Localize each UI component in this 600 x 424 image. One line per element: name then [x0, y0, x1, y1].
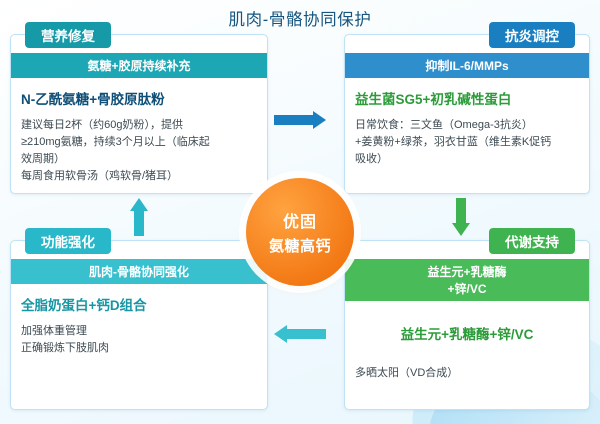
quadrant-subbar-metabolic-support: 益生元+乳糖酶 +锌/VC	[345, 259, 589, 301]
quadrant-key-metabolic-support: 益生元+乳糖酶+锌/VC	[355, 323, 579, 343]
arrow-top-right	[274, 111, 326, 129]
arrow-left-up	[130, 198, 148, 236]
quadrant-key-functional-enhancement: 全脂奶蛋白+钙D组合	[21, 294, 257, 314]
quadrant-card-anti-inflammatory-regulation: 抗炎调控 抑制IL-6/MMPs 益生菌SG5+初乳碱性蛋白 日常饮食：三文鱼（…	[344, 34, 590, 194]
diagram-canvas: 肌肉-骨骼协同保护 营养修复 氨糖+胶原持续补充 N-乙酰氨糖+骨胶原肽粉 建议…	[0, 0, 600, 424]
detail-line: 每周食用软骨汤（鸡软骨/猪耳）	[21, 168, 257, 185]
quadrant-details-metabolic-support: 多晒太阳（VD合成）	[355, 365, 579, 382]
center-badge-line1: 优固	[283, 208, 317, 232]
detail-line: 加强体重管理	[21, 323, 257, 340]
quadrant-tab-nutrition-repair: 营养修复	[25, 22, 111, 48]
quadrant-key-nutrition-repair: N-乙酰氨糖+骨胶原肽粉	[21, 88, 257, 108]
quadrant-details-functional-enhancement: 加强体重管理 正确锻炼下肢肌肉	[21, 323, 257, 357]
quadrant-details-nutrition-repair: 建议每日2杯（约60g奶粉），提供 ≥210mg氨糖，持续3个月以上（临床起 效…	[21, 117, 257, 185]
quadrant-subbar-functional-enhancement: 肌肉-骨骼协同强化	[11, 259, 267, 284]
quadrant-tab-metabolic-support: 代谢支持	[489, 228, 575, 254]
quadrant-subbar-anti-inflammatory-regulation: 抑制IL-6/MMPs	[345, 53, 589, 78]
detail-line: 日常饮食：三文鱼（Omega-3抗炎）	[355, 117, 579, 134]
quadrant-key-anti-inflammatory-regulation: 益生菌SG5+初乳碱性蛋白	[355, 88, 579, 108]
quadrant-card-functional-enhancement: 功能强化 肌肉-骨骼协同强化 全脂奶蛋白+钙D组合 加强体重管理 正确锻炼下肢肌…	[10, 240, 268, 410]
detail-line: 建议每日2杯（约60g奶粉），提供	[21, 117, 257, 134]
quadrant-tab-functional-enhancement: 功能强化	[25, 228, 111, 254]
detail-line: ≥210mg氨糖，持续3个月以上（临床起	[21, 134, 257, 151]
arrow-right-down	[452, 198, 470, 236]
arrow-bottom-left	[274, 325, 326, 343]
quadrant-details-anti-inflammatory-regulation: 日常饮食：三文鱼（Omega-3抗炎） +姜黄粉+绿茶，羽衣甘蓝（维生素K促钙 …	[355, 117, 579, 168]
detail-line: 正确锻炼下肢肌肉	[21, 340, 257, 357]
detail-line: 效周期）	[21, 151, 257, 168]
quadrant-card-metabolic-support: 代谢支持 益生元+乳糖酶 +锌/VC 益生元+乳糖酶+锌/VC 多晒太阳（VD合…	[344, 240, 590, 410]
detail-line: 吸收）	[355, 151, 579, 168]
detail-line: 多晒太阳（VD合成）	[355, 365, 579, 382]
detail-line: +姜黄粉+绿茶，羽衣甘蓝（维生素K促钙	[355, 134, 579, 151]
center-badge-line2: 氨糖高钙	[269, 235, 331, 256]
center-product-badge: 优固 氨糖高钙	[246, 178, 354, 286]
quadrant-card-nutrition-repair: 营养修复 氨糖+胶原持续补充 N-乙酰氨糖+骨胶原肽粉 建议每日2杯（约60g奶…	[10, 34, 268, 194]
quadrant-subbar-nutrition-repair: 氨糖+胶原持续补充	[11, 53, 267, 78]
quadrant-tab-anti-inflammatory-regulation: 抗炎调控	[489, 22, 575, 48]
